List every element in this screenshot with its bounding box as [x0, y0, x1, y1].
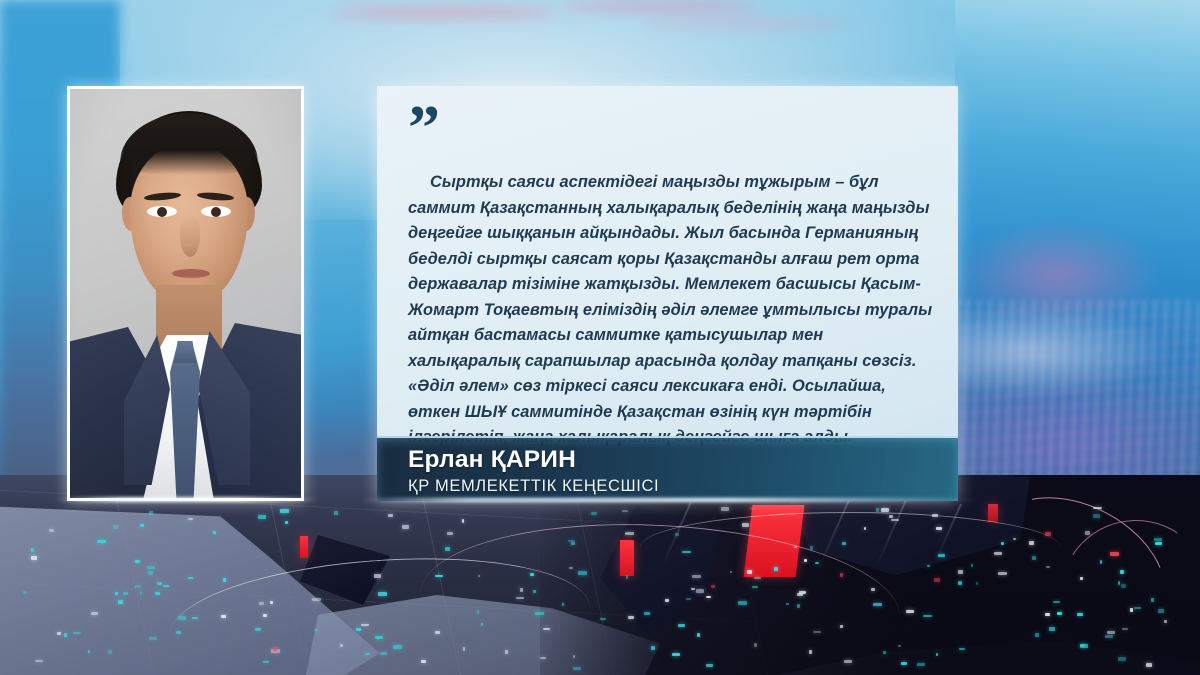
map-blip: [421, 660, 426, 663]
map-blip: [462, 519, 464, 523]
map-blip: [1085, 531, 1090, 535]
map-blip: [361, 624, 369, 626]
map-blip: [571, 542, 575, 545]
map-blip: [270, 601, 273, 604]
map-blip: [149, 637, 157, 640]
map-blip: [842, 542, 846, 545]
map-blip: [750, 507, 756, 510]
map-blip: [797, 593, 803, 596]
map-blip: [994, 552, 1002, 555]
map-blip: [844, 660, 852, 663]
map-blip: [573, 655, 575, 658]
map-blip: [49, 529, 54, 532]
map-blip: [871, 588, 875, 591]
map-blip: [533, 590, 536, 593]
speaker-role: ҚР МЕМЛЕКЕТТІК КЕҢЕСШІСІ: [408, 475, 659, 497]
map-blip: [696, 589, 704, 593]
map-blip: [148, 571, 153, 575]
map-blip: [959, 648, 965, 650]
map-blip: [1146, 663, 1152, 667]
map-blip: [1130, 608, 1133, 612]
map-blip: [1057, 612, 1062, 615]
map-blip: [917, 663, 925, 666]
map-blip: [958, 581, 962, 585]
map-blip: [1164, 620, 1167, 623]
map-blip: [435, 575, 443, 577]
map-blip: [1077, 613, 1083, 616]
map-blip: [1118, 581, 1120, 585]
map-blip: [1045, 613, 1050, 616]
map-blip: [402, 525, 409, 529]
quote-card: ” Сыртқы саяси аспектідегі маңызды тұжыр…: [377, 86, 958, 501]
map-blip: [192, 617, 198, 619]
map-blip: [135, 585, 141, 588]
card-under-glow: [360, 498, 975, 502]
map-blip: [958, 570, 963, 574]
map-blip: [1121, 584, 1126, 588]
map-blip: [57, 632, 61, 635]
map-blip: [1080, 644, 1085, 647]
background-pink-streak: [330, 8, 560, 17]
background-pink-streak: [560, 2, 760, 11]
map-blip: [149, 511, 153, 515]
map-blip: [505, 650, 508, 654]
map-blip: [91, 612, 98, 615]
map-blip: [628, 616, 634, 619]
map-blip: [889, 515, 893, 518]
map-blip: [840, 573, 843, 577]
map-blip: [123, 592, 128, 595]
map-blip: [1122, 628, 1128, 630]
map-blip: [312, 598, 321, 601]
map-blip: [1053, 601, 1060, 603]
map-blip: [1107, 631, 1115, 634]
map-blip: [934, 578, 940, 582]
map-blip: [213, 531, 216, 534]
map-blip: [569, 567, 573, 569]
map-blip: [1093, 514, 1100, 518]
quote-mark-icon: ”: [408, 108, 934, 152]
map-blip: [591, 512, 597, 515]
map-blip: [1158, 609, 1164, 613]
map-blip: [388, 514, 393, 517]
map-blip: [221, 615, 226, 618]
map-blip: [178, 616, 186, 620]
map-blip: [686, 598, 691, 600]
map-blip: [445, 547, 450, 551]
map-blip: [113, 525, 118, 529]
map-red-marker: [300, 536, 308, 558]
map-blip: [1080, 577, 1083, 580]
map-blip: [463, 647, 465, 651]
map-blip: [155, 592, 160, 595]
quote-body: ” Сыртқы саяси аспектідегі маңызды тұжыр…: [408, 108, 934, 451]
map-blip: [1134, 607, 1141, 609]
map-blip: [794, 546, 797, 548]
map-blip: [1045, 532, 1051, 536]
map-blip: [797, 604, 800, 608]
map-blip: [883, 651, 886, 654]
map-blip: [622, 510, 628, 512]
map-blip: [188, 518, 193, 520]
map-blip: [1155, 542, 1162, 545]
map-blip: [31, 556, 37, 560]
map-blip: [176, 631, 181, 634]
map-blip: [840, 625, 843, 628]
speaker-identity: Ерлан ҚАРИН ҚР МЕМЛЕКЕТТІК КЕҢЕСШІСІ: [408, 446, 659, 497]
map-blip: [810, 546, 813, 550]
map-blip: [932, 514, 938, 517]
map-blip: [752, 586, 758, 588]
map-blip: [380, 652, 387, 655]
quote-text: Сыртқы саяси аспектідегі маңызды тұжырым…: [408, 170, 934, 451]
map-blip: [147, 566, 155, 569]
map-blip: [516, 597, 524, 599]
map-blip: [578, 571, 587, 575]
map-blip: [1093, 507, 1102, 509]
map-blip: [477, 610, 479, 614]
map-blip: [135, 560, 140, 563]
avatar: [70, 89, 301, 498]
map-blip: [573, 667, 581, 670]
map-blip: [258, 515, 266, 519]
map-blip: [340, 644, 343, 647]
map-blip: [188, 577, 193, 579]
map-blip: [672, 653, 680, 656]
map-blip: [334, 511, 338, 515]
map-blip: [157, 582, 162, 585]
map-blip: [809, 650, 812, 654]
map-blip: [393, 645, 402, 649]
map-blip: [115, 592, 118, 595]
map-blip: [118, 600, 123, 604]
map-blip: [711, 585, 715, 588]
map-blip: [706, 596, 711, 598]
map-blip: [108, 650, 112, 654]
map-blip: [692, 575, 701, 578]
map-blip: [378, 592, 387, 596]
map-blip: [23, 591, 26, 594]
map-blip: [804, 559, 807, 562]
map-blip: [1118, 657, 1126, 661]
map-blip: [375, 636, 383, 639]
speaker-name: Ерлан ҚАРИН: [408, 446, 659, 474]
map-blip: [1035, 633, 1039, 637]
broadcast-graphic: ” Сыртқы саяси аспектідегі маңызды тұжыр…: [0, 0, 1200, 675]
map-blip: [140, 591, 142, 595]
speaker-photo-frame: [67, 86, 304, 501]
map-blip: [530, 573, 534, 576]
map-blip: [644, 612, 650, 615]
map-blip: [901, 662, 907, 665]
map-blip: [1120, 570, 1124, 574]
map-blip: [1046, 566, 1050, 568]
map-blip: [747, 570, 752, 574]
map-blip: [1110, 552, 1119, 556]
map-blip: [873, 603, 882, 606]
map-blip: [1151, 598, 1154, 602]
map-blip: [923, 615, 932, 617]
map-blip: [1029, 541, 1034, 545]
map-blip: [273, 647, 277, 651]
map-blip: [535, 612, 544, 615]
map-blip: [447, 532, 453, 535]
map-blip: [140, 524, 144, 527]
map-blip: [356, 628, 361, 631]
map-blip: [64, 633, 67, 637]
map-blip: [31, 548, 34, 552]
map-blip: [697, 633, 700, 637]
photo-vignette: [70, 89, 301, 498]
map-blip: [520, 588, 523, 592]
map-blip: [374, 574, 381, 578]
map-blip: [481, 623, 483, 626]
map-blip: [813, 631, 821, 633]
map-blip: [754, 643, 757, 647]
map-blip: [906, 610, 914, 613]
map-blip: [998, 572, 1007, 575]
map-blip: [285, 521, 288, 524]
map-blip: [665, 599, 669, 602]
map-blip: [625, 532, 634, 535]
map-blip: [706, 664, 713, 667]
map-blip: [651, 646, 655, 650]
map-blip: [881, 508, 889, 512]
map-blip: [223, 578, 226, 582]
map-blip: [742, 523, 749, 527]
map-blip: [682, 551, 691, 553]
map-blip: [280, 509, 289, 513]
map-blip: [626, 575, 628, 579]
map-blip: [88, 650, 90, 653]
map-blip: [1105, 635, 1113, 638]
speaker-name-bar: Ерлан ҚАРИН ҚР МЕМЛЕКЕТТІК КЕҢЕСШІСІ: [377, 436, 958, 501]
map-blip: [1032, 556, 1036, 560]
map-blip: [1154, 538, 1162, 541]
map-blip: [35, 660, 43, 662]
map-blip: [259, 602, 264, 605]
map-blip: [754, 577, 761, 579]
map-blip: [936, 527, 942, 530]
map-blip: [678, 624, 685, 627]
photo-under-glow: [56, 497, 318, 502]
map-blip: [1100, 560, 1102, 564]
map-blip: [774, 567, 778, 571]
map-blip: [255, 628, 261, 631]
background-pink-streak: [640, 20, 850, 27]
map-blip: [738, 601, 747, 605]
map-blip: [435, 631, 440, 634]
map-blip: [97, 540, 106, 543]
map-blip: [543, 628, 550, 630]
map-blip: [1049, 627, 1055, 631]
map-blip: [876, 508, 879, 512]
map-blip: [721, 507, 729, 511]
map-blip: [73, 632, 81, 634]
